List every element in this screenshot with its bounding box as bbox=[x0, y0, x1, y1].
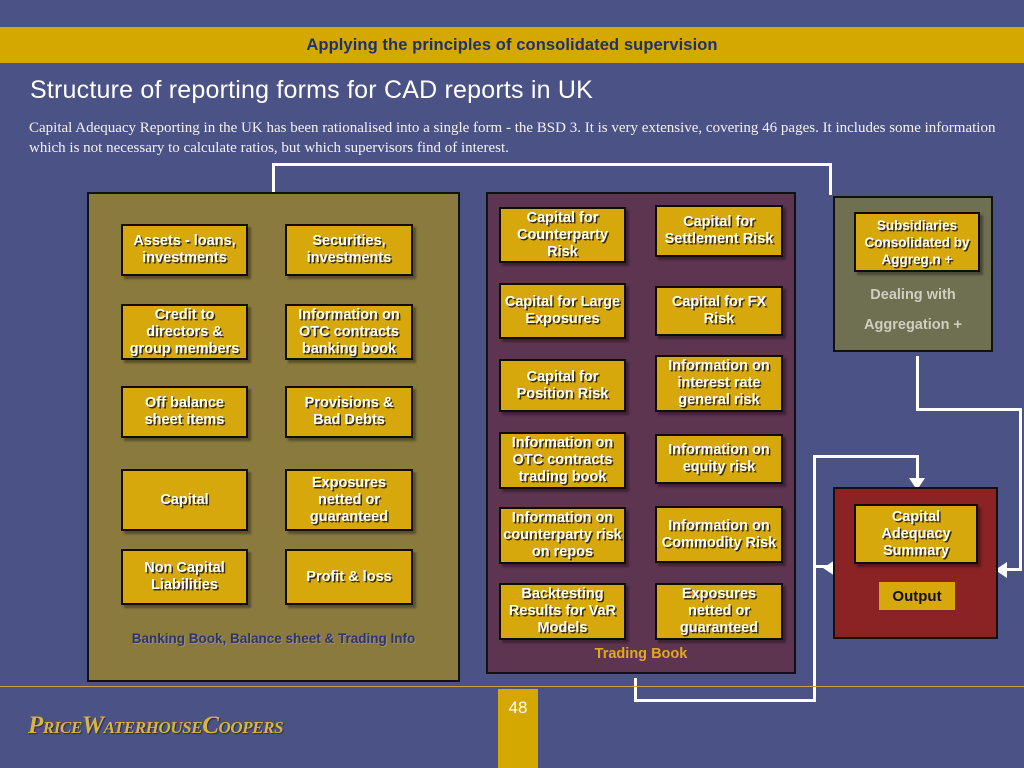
subsidiaries-note-line2: Aggregation + bbox=[835, 317, 991, 333]
pwc-logo-w: W bbox=[82, 712, 104, 739]
banking-box-profit-loss[interactable]: Profit & loss bbox=[285, 549, 413, 605]
banking-box-provisions-label: Provisions & Bad Debts bbox=[287, 395, 411, 429]
trading-box-backtesting[interactable]: Backtesting Results for VaR Models bbox=[499, 583, 626, 640]
connector-subsidiaries-drop bbox=[916, 356, 919, 410]
banking-box-off-balance[interactable]: Off balance sheet items bbox=[121, 386, 248, 438]
banking-box-securities[interactable]: Securities, investments bbox=[285, 224, 413, 276]
pwc-logo-rice: RICE bbox=[43, 718, 82, 737]
connector-top-right-drop bbox=[829, 163, 832, 193]
capital-adequacy-summary-box[interactable]: Capital Adequacy Summary bbox=[854, 504, 978, 564]
banking-box-credit-directors-label: Credit to directors & group members bbox=[123, 307, 246, 358]
banking-box-credit-directors[interactable]: Credit to directors & group members bbox=[121, 304, 248, 360]
banking-box-assets-label: Assets - loans, investments bbox=[123, 233, 246, 267]
connector-right-into-summary bbox=[1006, 568, 1022, 571]
trading-box-settlement-risk-label: Capital for Settlement Risk bbox=[657, 214, 781, 248]
connector-subsidiaries-bottom-drop bbox=[829, 193, 832, 195]
footer-divider bbox=[0, 686, 1024, 687]
trading-box-backtesting-label: Backtesting Results for VaR Models bbox=[501, 586, 624, 637]
banking-box-off-balance-label: Off balance sheet items bbox=[123, 395, 246, 429]
trading-box-equity-risk-label: Information on equity risk bbox=[657, 442, 781, 476]
trading-box-large-exposures[interactable]: Capital for Large Exposures bbox=[499, 283, 626, 339]
trading-box-large-exposures-label: Capital for Large Exposures bbox=[501, 294, 624, 328]
trading-box-otc-trading-label: Information on OTC contracts trading boo… bbox=[501, 435, 624, 486]
output-box[interactable]: Output bbox=[879, 582, 955, 610]
subsidiaries-box[interactable]: Subsidiaries Consolidated by Aggreg.n + bbox=[854, 212, 980, 272]
connector-subsidiaries-right bbox=[916, 408, 1022, 411]
subsidiaries-note-line1: Dealing with bbox=[835, 287, 991, 303]
pwc-logo-aterhouse: ATERHOUSE bbox=[104, 718, 202, 737]
banking-book-panel: Assets - loans, investments Securities, … bbox=[87, 192, 460, 682]
pwc-logo-p: P bbox=[28, 712, 43, 739]
connector-right-edge-drop bbox=[1019, 408, 1022, 570]
trading-box-repos[interactable]: Information on counterparty risk on repo… bbox=[499, 507, 626, 564]
banking-box-non-capital[interactable]: Non Capital Liabilities bbox=[121, 549, 248, 605]
capital-adequacy-summary-label: Capital Adequacy Summary bbox=[856, 509, 976, 560]
trading-box-equity-risk[interactable]: Information on equity risk bbox=[655, 434, 783, 484]
trading-book-caption: Trading Book bbox=[488, 646, 794, 663]
trading-box-repos-label: Information on counterparty risk on repo… bbox=[501, 510, 624, 561]
page-title: Structure of reporting forms for CAD rep… bbox=[30, 76, 593, 105]
trading-box-commodity-risk[interactable]: Information on Commodity Risk bbox=[655, 506, 783, 563]
trading-box-otc-trading[interactable]: Information on OTC contracts trading boo… bbox=[499, 432, 626, 489]
trading-box-interest-rate[interactable]: Information on interest rate general ris… bbox=[655, 355, 783, 412]
banking-box-otc-banking-label: Information on OTC contracts banking boo… bbox=[287, 307, 411, 358]
page-number: 48 bbox=[509, 698, 528, 768]
header-title: Applying the principles of consolidated … bbox=[306, 36, 717, 55]
connector-mid-horizontal bbox=[813, 455, 919, 458]
pwc-logo: PRICEWATERHOUSECOOPERS bbox=[28, 712, 283, 740]
pwc-logo-oopers: OOPERS bbox=[218, 718, 283, 737]
banking-box-non-capital-label: Non Capital Liabilities bbox=[123, 560, 246, 594]
intro-paragraph: Capital Adequacy Reporting in the UK has… bbox=[29, 118, 1017, 158]
connector-top-left-drop bbox=[272, 163, 275, 193]
pwc-logo-c: C bbox=[202, 712, 218, 739]
trading-book-panel: Capital for Counterparty Risk Capital fo… bbox=[486, 192, 796, 674]
header-bar: Applying the principles of consolidated … bbox=[0, 27, 1024, 63]
trading-box-exposures-netted[interactable]: Exposures netted or guaranteed bbox=[655, 583, 783, 640]
connector-top-horizontal bbox=[272, 163, 832, 166]
trading-box-counterparty-risk[interactable]: Capital for Counterparty Risk bbox=[499, 207, 626, 263]
trading-box-position-risk-label: Capital for Position Risk bbox=[501, 369, 624, 403]
trading-box-counterparty-risk-label: Capital for Counterparty Risk bbox=[501, 210, 624, 261]
summary-panel: Capital Adequacy Summary Output bbox=[833, 487, 998, 639]
trading-box-position-risk[interactable]: Capital for Position Risk bbox=[499, 359, 626, 412]
connector-mid-vertical bbox=[813, 455, 816, 702]
banking-box-profit-loss-label: Profit & loss bbox=[304, 569, 393, 586]
banking-box-otc-banking[interactable]: Information on OTC contracts banking boo… bbox=[285, 304, 413, 360]
trading-box-exposures-netted-label: Exposures netted or guaranteed bbox=[657, 586, 781, 637]
output-box-label: Output bbox=[892, 588, 941, 605]
trading-box-settlement-risk[interactable]: Capital for Settlement Risk bbox=[655, 205, 783, 257]
banking-box-assets[interactable]: Assets - loans, investments bbox=[121, 224, 248, 276]
subsidiaries-box-label: Subsidiaries Consolidated by Aggreg.n + bbox=[856, 217, 978, 268]
connector-bottom-horizontal bbox=[634, 699, 816, 702]
banking-box-capital-label: Capital bbox=[158, 492, 210, 509]
trading-box-commodity-risk-label: Information on Commodity Risk bbox=[657, 518, 781, 552]
banking-box-exposures-netted[interactable]: Exposures netted or guaranteed bbox=[285, 469, 413, 531]
banking-box-securities-label: Securities, investments bbox=[287, 233, 411, 267]
banking-box-exposures-netted-label: Exposures netted or guaranteed bbox=[287, 475, 411, 526]
subsidiaries-panel: Subsidiaries Consolidated by Aggreg.n + … bbox=[833, 196, 993, 352]
banking-box-provisions[interactable]: Provisions & Bad Debts bbox=[285, 386, 413, 438]
banking-book-caption: Banking Book, Balance sheet & Trading In… bbox=[89, 630, 458, 647]
trading-box-fx-risk-label: Capital for FX Risk bbox=[657, 294, 781, 328]
banking-box-capital[interactable]: Capital bbox=[121, 469, 248, 531]
trading-box-interest-rate-label: Information on interest rate general ris… bbox=[657, 358, 781, 409]
page-number-badge: 48 bbox=[498, 689, 538, 768]
trading-box-fx-risk[interactable]: Capital for FX Risk bbox=[655, 286, 783, 336]
